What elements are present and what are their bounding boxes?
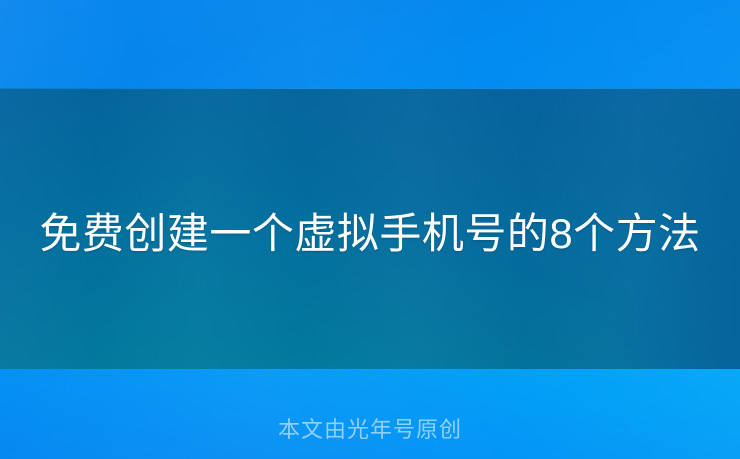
article-cover-banner: 免费创建一个虚拟手机号的8个方法 本文由光年号原创	[0, 0, 740, 459]
page-title: 免费创建一个虚拟手机号的8个方法	[0, 206, 740, 262]
watermark-text: 本文由光年号原创	[0, 414, 740, 446]
top-color-band	[0, 0, 740, 89]
